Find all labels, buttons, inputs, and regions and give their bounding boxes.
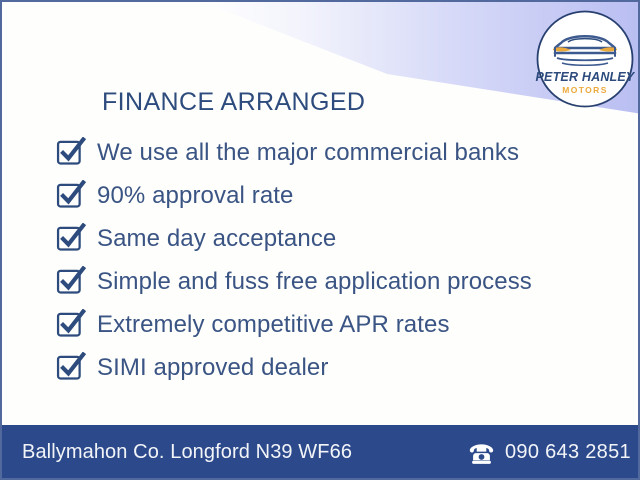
footer-phone-number: 090 643 2851 [505,441,631,464]
telephone-icon [468,443,495,465]
checkbox-checked-icon [56,223,86,253]
footer-bar: Ballymahon Co. Longford N39 WF66 090 643… [0,425,640,480]
list-item: Extremely competitive APR rates [56,303,616,346]
list-item: 90% approval rate [56,174,616,217]
list-item-label: We use all the major commercial banks [97,141,519,165]
checkbox-checked-icon [56,180,86,210]
list-item-label: SIMI approved dealer [97,356,328,380]
finance-benefits-list: We use all the major commercial banks 90… [56,131,616,389]
checkbox-checked-icon [56,137,86,167]
list-item: Same day acceptance [56,217,616,260]
list-item: We use all the major commercial banks [56,131,616,174]
list-item: SIMI approved dealer [56,346,616,389]
checkbox-checked-icon [56,352,86,382]
footer-phone-group: 090 643 2851 [468,441,631,464]
checkbox-checked-icon [56,309,86,339]
peter-hanley-motors-logo: PETER HANLEY MOTORS [535,9,635,109]
footer-address: Ballymahon Co. Longford N39 WF66 [22,441,352,464]
list-item-label: Same day acceptance [97,227,336,251]
list-item: Simple and fuss free application process [56,260,616,303]
finance-arranged-poster: PETER HANLEY MOTORS FINANCE ARRANGED We … [0,0,640,480]
checkbox-checked-icon [56,266,86,296]
logo-brand-name: PETER HANLEY [536,70,635,84]
list-item-label: Extremely competitive APR rates [97,313,450,337]
list-item-label: 90% approval rate [97,184,294,208]
logo-brand-subname: MOTORS [562,85,608,95]
page-title: FINANCE ARRANGED [102,88,365,117]
list-item-label: Simple and fuss free application process [97,270,532,294]
